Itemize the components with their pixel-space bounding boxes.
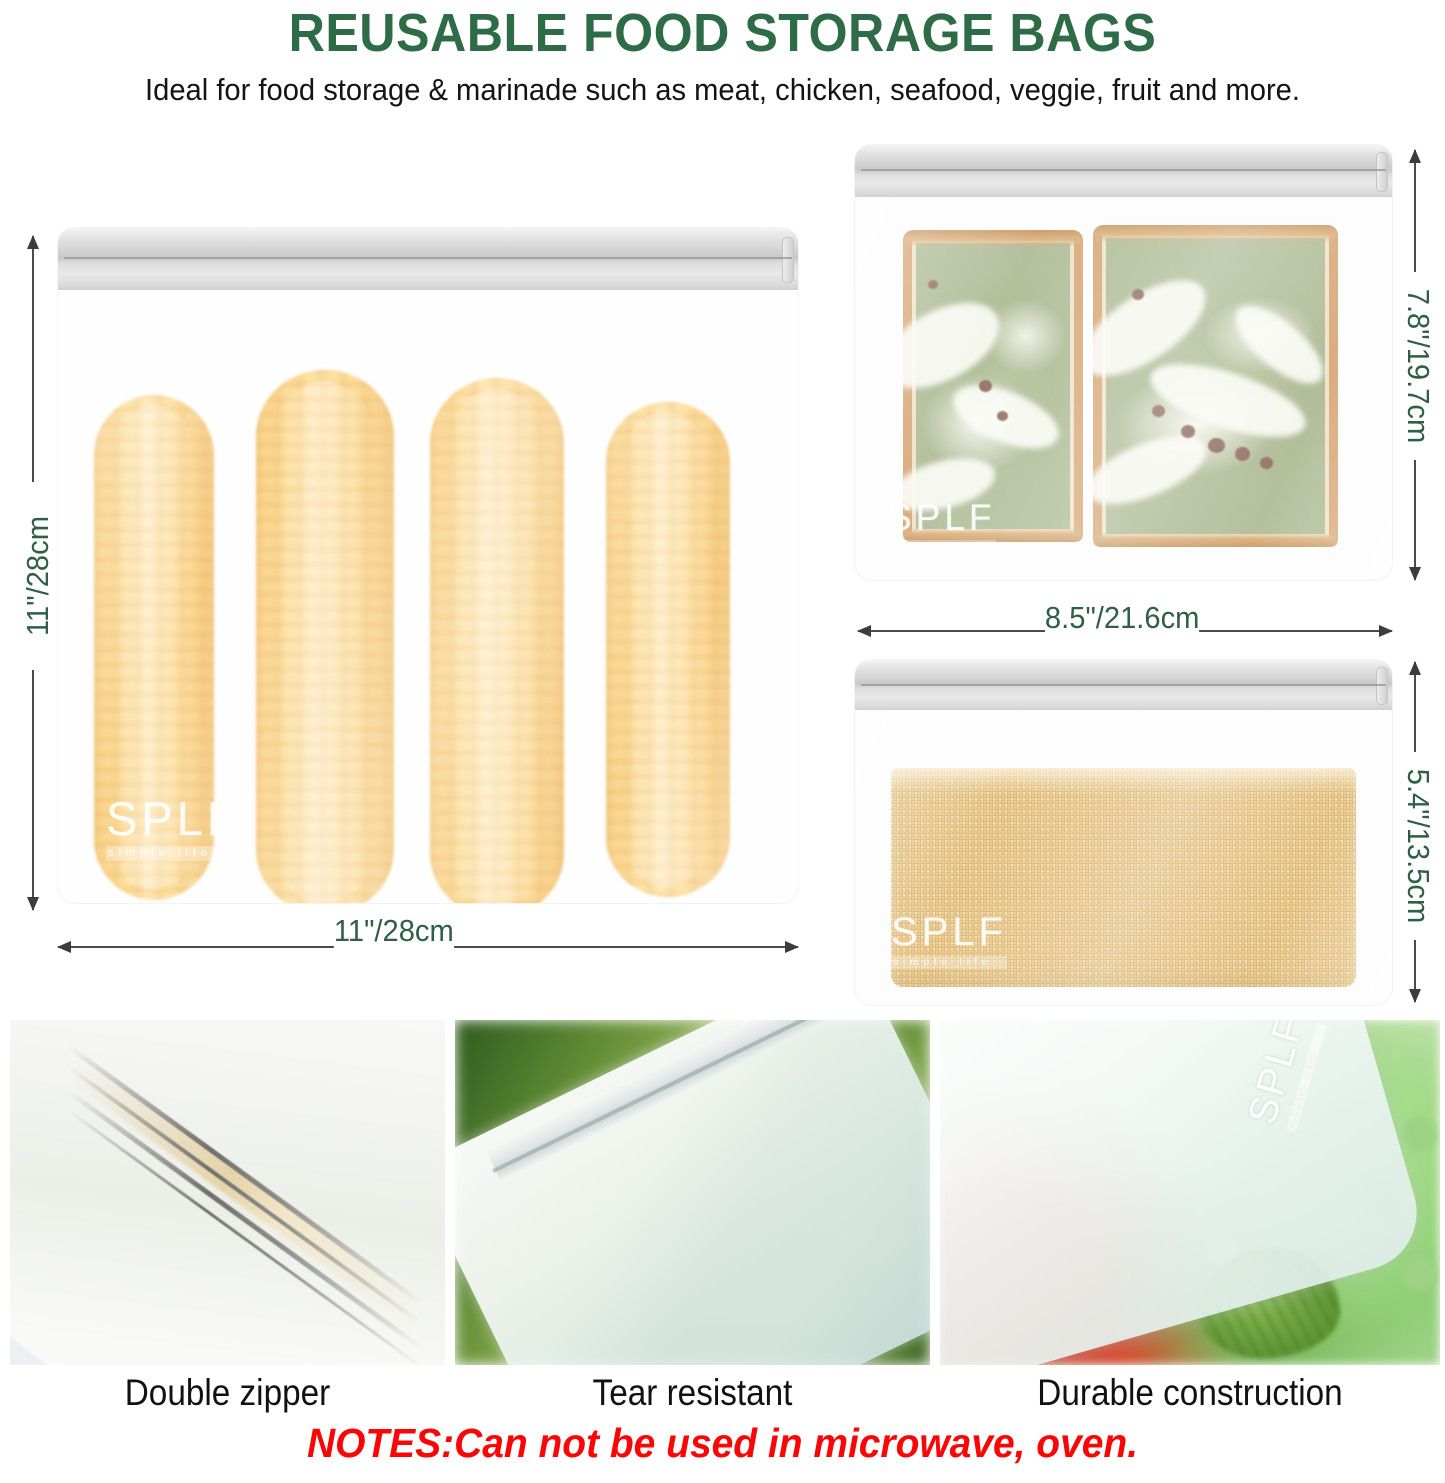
feature-panel-tear-resistant [455, 1020, 930, 1365]
feature-panel-double-zipper [10, 1020, 445, 1365]
zipper-strip [855, 145, 1392, 198]
feature-panel-durable-construction: SPLF simple life [940, 1020, 1440, 1365]
page-title: REUSABLE FOOD STORAGE BAGS [51, 2, 1395, 64]
bag-body: SPLF simple life [58, 290, 798, 903]
zipper-strip [855, 660, 1392, 711]
zipper-strip [58, 228, 798, 291]
corn-contents [58, 290, 798, 903]
corn-storage-bag: SPLF simple life [58, 228, 798, 903]
bread-slice [1093, 225, 1338, 547]
zipper-tab-icon [1376, 152, 1388, 191]
notes-warning: NOTES:Can not be used in microwave, oven… [36, 1420, 1409, 1467]
caption-double-zipper: Double zipper [32, 1372, 424, 1414]
corn-height-label: 11"/28cm [20, 482, 56, 670]
bag-body: SPLF simple life [855, 197, 1392, 580]
caption-durable-construction: Durable construction [965, 1372, 1415, 1414]
double-zipper-photo [10, 1020, 445, 1365]
millet-storage-bag: SPLF simple life [855, 660, 1392, 1005]
bread-slice [903, 230, 1083, 542]
durable-construction-photo: SPLF simple life [940, 1020, 1440, 1365]
millet-contents [891, 768, 1356, 987]
bread-height-label: 7.8"/19.7cm [1400, 272, 1436, 460]
zipper-tab-icon [782, 237, 794, 284]
bread-storage-bag: SPLF simple life [855, 145, 1392, 580]
product-infographic: REUSABLE FOOD STORAGE BAGS Ideal for foo… [0, 0, 1445, 1483]
caption-tear-resistant: Tear resistant [479, 1372, 907, 1414]
tear-resistant-photo [455, 1020, 930, 1365]
bag-body: SPLF simple life [855, 710, 1392, 1005]
zipper-tab-icon [1376, 667, 1388, 705]
bread-width-label: 8.5"/21.6cm [1045, 600, 1200, 636]
page-subtitle: Ideal for food storage & marinade such a… [43, 72, 1401, 108]
corn-width-label: 11"/28cm [334, 913, 454, 949]
millet-height-label: 5.4"/13.5cm [1400, 752, 1436, 940]
